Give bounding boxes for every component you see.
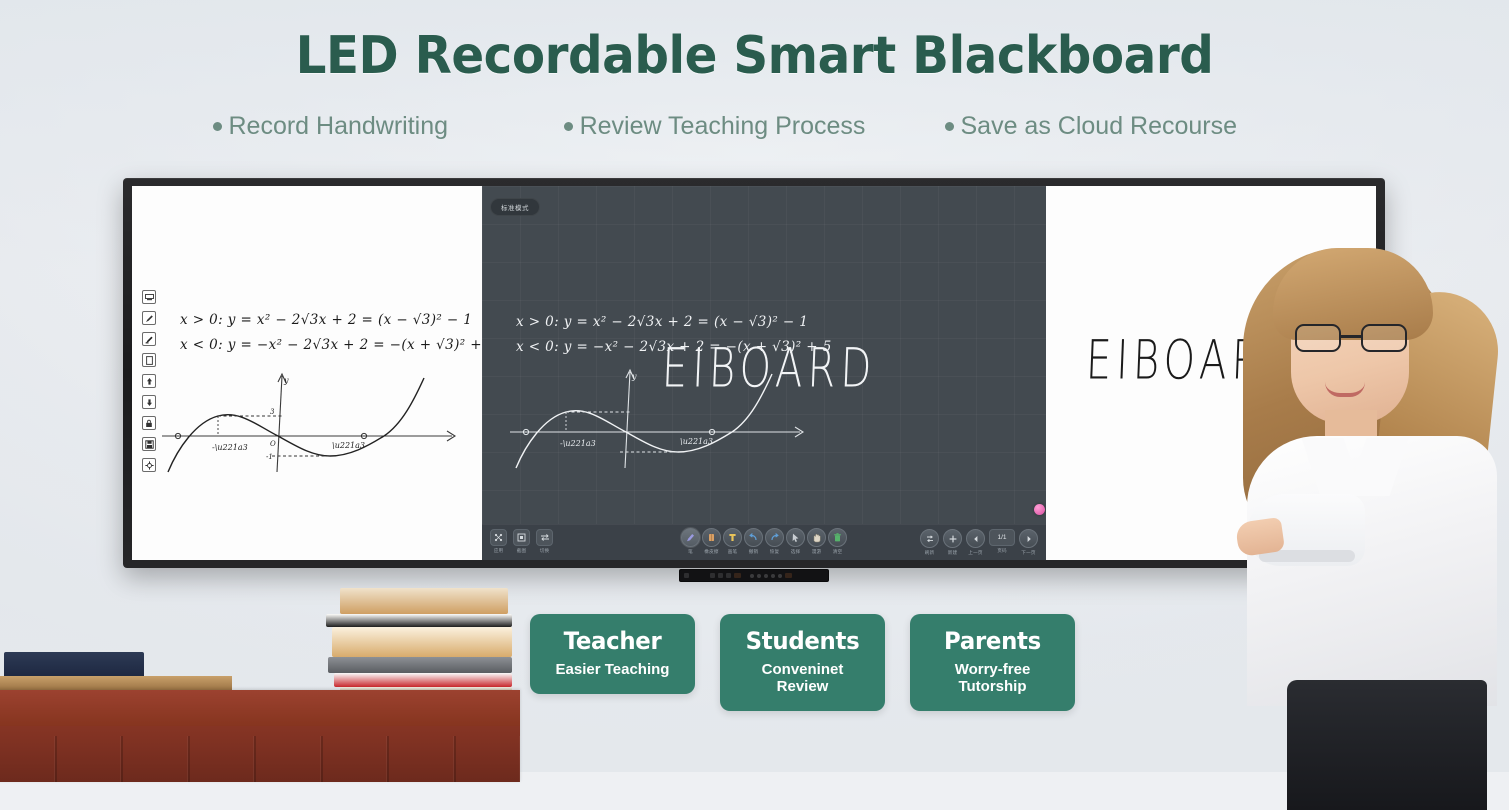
- mode-badge[interactable]: 标准模式: [490, 198, 540, 216]
- arrow-up-icon[interactable]: [142, 374, 156, 388]
- add-page-button[interactable]: 新建: [943, 529, 962, 556]
- card-title: Parents: [929, 627, 1055, 655]
- button-label: 下一页: [1021, 550, 1035, 556]
- tool-label: 画笔: [728, 549, 738, 555]
- book-item: [326, 614, 512, 627]
- presenter-skirt: [1287, 680, 1487, 810]
- svg-text:\u221a3: \u221a3: [680, 437, 713, 446]
- toolbar-center-tools: 笔 橡皮擦 画笔 撤销: [681, 528, 847, 555]
- podium-panels: [0, 736, 520, 782]
- power-button-icon[interactable]: [684, 573, 689, 578]
- button-label: 截图: [517, 548, 527, 554]
- settings-icon[interactable]: [142, 458, 156, 472]
- button-label: 新建: [948, 550, 958, 556]
- bullet-dot-icon: [213, 122, 222, 131]
- feature-item-cloud-resource: Save as Cloud Recourse: [915, 112, 1315, 141]
- tool-label: 笔: [688, 549, 693, 555]
- button-label: 刷新: [925, 550, 935, 556]
- pen-tool-button[interactable]: 笔: [681, 528, 700, 555]
- screenshot-button[interactable]: 截图: [513, 529, 530, 554]
- indicator-dot-icon: [757, 574, 761, 578]
- page-icon[interactable]: [142, 353, 156, 367]
- audience-card-teacher[interactable]: Teacher Easier Teaching: [530, 614, 695, 694]
- dark-panel-toolbar: 应用 截图 切换 笔: [482, 524, 1046, 560]
- svg-text:y: y: [283, 376, 289, 385]
- audience-card-list: Teacher Easier Teaching Students Conveni…: [530, 614, 1075, 711]
- undo-button[interactable]: 撤销: [744, 528, 763, 555]
- usb-port-icon: [734, 573, 741, 578]
- page-title: LED Recordable Smart Blackboard: [53, 26, 1456, 86]
- page-indicator: 1/1 页码: [989, 529, 1015, 554]
- card-subtitle: Worry-free Tutorship: [926, 661, 1059, 695]
- equation-line-1: x > 0: y = x² − 2√3x + 2 = (x − √3)² − 1: [180, 312, 482, 328]
- card-subtitle: Easier Teaching: [546, 661, 679, 678]
- tool-label: 橡皮擦: [704, 549, 718, 555]
- next-page-button[interactable]: 下一页: [1019, 529, 1038, 556]
- audience-card-students[interactable]: Students Conveninet Review: [720, 614, 885, 711]
- redo-button[interactable]: 恢复: [765, 528, 784, 555]
- feature-item-review-teaching: Review Teaching Process: [515, 112, 915, 141]
- brand-wordmark-dark: EIBOARD: [661, 338, 878, 400]
- bezel-control-strip[interactable]: [679, 569, 829, 582]
- equation-line-2: x < 0: y = −x² − 2√3x + 2 = −(x + √3)² +…: [180, 337, 482, 353]
- lock-icon[interactable]: [142, 416, 156, 430]
- pan-hand-button[interactable]: 漫游: [807, 528, 826, 555]
- tool-label: 清空: [833, 549, 843, 555]
- svg-text:y: y: [631, 372, 637, 381]
- left-panel-toolbar[interactable]: [142, 290, 156, 472]
- tool-label: 选择: [791, 549, 801, 555]
- glasses-icon: [1295, 324, 1407, 354]
- audience-card-parents[interactable]: Parents Worry-free Tutorship: [910, 614, 1075, 711]
- book-item: [328, 657, 512, 673]
- refresh-button[interactable]: 刷新: [920, 529, 939, 556]
- menu-button-icon[interactable]: [710, 573, 715, 578]
- feature-label: Save as Cloud Recourse: [961, 112, 1238, 141]
- podium-top: [0, 690, 520, 726]
- card-title: Students: [739, 627, 865, 655]
- hdmi-port-icon: [785, 573, 792, 578]
- left-equations: x > 0: y = x² − 2√3x + 2 = (x − √3)² − 1…: [180, 312, 482, 362]
- book-stack: [318, 588, 510, 698]
- indicator-dot-icon: [771, 574, 775, 578]
- tool-label: 恢复: [770, 549, 780, 555]
- blackboard-dark-panel[interactable]: 标准模式 x > 0: y = x² − 2√3x + 2 = (x − √3)…: [482, 186, 1046, 560]
- volume-button-icon[interactable]: [726, 573, 731, 578]
- book-item: [340, 588, 508, 614]
- clear-all-button[interactable]: 清空: [828, 528, 847, 555]
- arrow-down-icon[interactable]: [142, 395, 156, 409]
- eraser-tool-button[interactable]: 橡皮擦: [702, 528, 721, 555]
- apps-grid-button[interactable]: 应用: [490, 529, 507, 554]
- tool-label: 漫游: [812, 549, 822, 555]
- desk-ledge: [0, 676, 232, 690]
- desk-blue-box: [4, 652, 144, 678]
- indicator-dot-icon: [764, 574, 768, 578]
- screen-capture-icon[interactable]: [142, 290, 156, 304]
- select-cursor-button[interactable]: 选择: [786, 528, 805, 555]
- svg-text:3: 3: [270, 408, 275, 416]
- equation-line-1: x > 0: y = x² − 2√3x + 2 = (x − √3)² − 1: [516, 314, 832, 330]
- button-label: 页码: [997, 548, 1007, 554]
- bullet-dot-icon: [945, 122, 954, 131]
- save-icon[interactable]: [142, 437, 156, 451]
- highlighter-tool-button[interactable]: 画笔: [723, 528, 742, 555]
- feature-label: Review Teaching Process: [580, 112, 866, 141]
- presenter-photo: [1229, 232, 1509, 772]
- tool-label: 撤销: [749, 549, 759, 555]
- input-button-icon[interactable]: [718, 573, 723, 578]
- feature-item-record-handwriting: Record Handwriting: [195, 112, 515, 141]
- button-label: 应用: [494, 548, 504, 554]
- button-label: 切换: [540, 548, 550, 554]
- book-item: [332, 627, 512, 657]
- teacher-podium: [0, 690, 520, 782]
- svg-text:-\u221a3: -\u221a3: [212, 443, 248, 452]
- smart-blackboard-frame: x > 0: y = x² − 2√3x + 2 = (x − √3)² − 1…: [123, 178, 1385, 568]
- function-graph-light: -\u221a3 \u221a3 O -1 3 y: [162, 368, 462, 478]
- prev-page-button[interactable]: 上一页: [966, 529, 985, 556]
- pen-icon[interactable]: [142, 311, 156, 325]
- button-label: 上一页: [968, 550, 982, 556]
- book-item: [334, 673, 512, 687]
- svg-text:-\u221a3: -\u221a3: [560, 439, 596, 448]
- indicator-dot-icon: [750, 574, 754, 578]
- toolbar-left-group: 应用 截图 切换: [490, 529, 553, 554]
- whiteboard-left-panel[interactable]: x > 0: y = x² − 2√3x + 2 = (x − √3)² − 1…: [132, 186, 482, 560]
- presenter-hand: [1235, 517, 1285, 557]
- page-indicator-value: 1/1: [997, 534, 1006, 541]
- svg-text:\u221a3: \u221a3: [332, 441, 365, 450]
- feature-label: Record Handwriting: [229, 112, 449, 141]
- indicator-dot-icon: [778, 574, 782, 578]
- card-subtitle: Conveninet Review: [736, 661, 869, 695]
- switch-button[interactable]: 切换: [536, 529, 553, 554]
- blackboard-screen: x > 0: y = x² − 2√3x + 2 = (x − √3)² − 1…: [132, 186, 1376, 560]
- svg-text:-1: -1: [266, 453, 273, 461]
- toolbar-page-controls: 刷新 新建 上一页 1/1 页码: [920, 529, 1038, 556]
- feature-bullet-list: Record Handwriting Review Teaching Proce…: [0, 112, 1509, 141]
- card-title: Teacher: [549, 627, 675, 655]
- highlighter-icon[interactable]: [142, 332, 156, 346]
- svg-text:O: O: [270, 440, 276, 448]
- bullet-dot-icon: [564, 122, 573, 131]
- marker-dot-icon[interactable]: [1034, 504, 1045, 515]
